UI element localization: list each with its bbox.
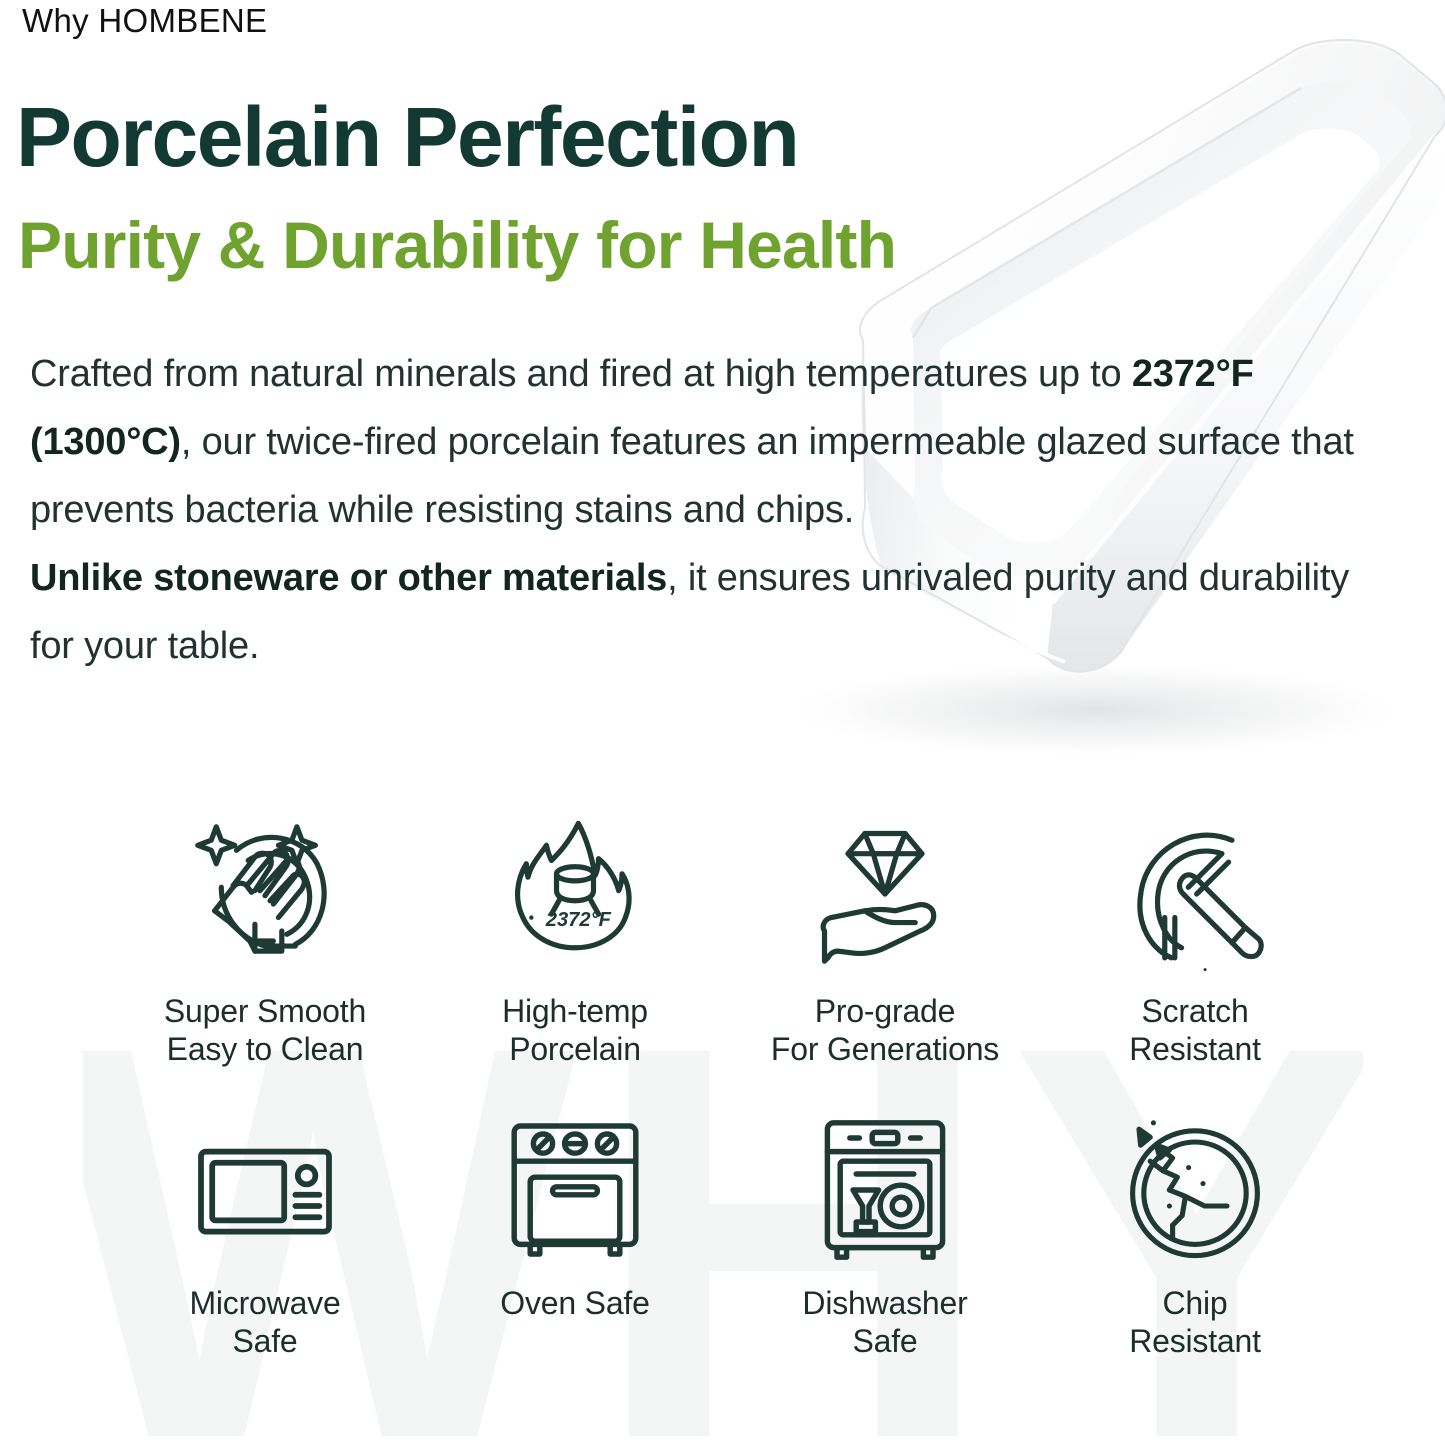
paragraph-one-tail: , our twice-fired porcelain features an …	[30, 421, 1354, 531]
feature-high-temp: 2372°F High-temp Porcelain	[420, 800, 730, 1100]
knife-scratch-plate-icon	[1111, 810, 1279, 978]
feature-label: Chip Resistant	[1129, 1284, 1261, 1360]
feature-oven-safe: Oven Safe	[420, 1100, 730, 1400]
page-subtitle: Purity & Durability for Health	[18, 208, 896, 282]
body-copy: Crafted from natural minerals and fired …	[30, 340, 1370, 680]
page-title: Porcelain Perfection	[16, 92, 798, 182]
cracked-plate-icon	[1115, 1110, 1275, 1270]
paragraph-one-lead: Crafted from natural minerals and fired …	[30, 353, 1132, 395]
feature-super-smooth: Super Smooth Easy to Clean	[110, 800, 420, 1100]
hand-wipe-sparkle-icon	[181, 810, 349, 978]
infographic-page: WHY	[0, 0, 1445, 1446]
flame-temp-text: 2372°F	[545, 909, 612, 931]
feature-label: Scratch Resistant	[1129, 992, 1261, 1068]
feature-label: Pro-grade For Generations	[771, 992, 999, 1068]
paragraph-one: Crafted from natural minerals and fired …	[30, 340, 1370, 544]
feature-chip-resistant: Chip Resistant	[1040, 1100, 1350, 1400]
feature-label: Microwave Safe	[189, 1284, 340, 1360]
feature-microwave-safe: Microwave Safe	[110, 1100, 420, 1400]
flame-temperature-icon: 2372°F	[491, 810, 659, 978]
microwave-icon	[185, 1110, 345, 1270]
feature-label: Dishwasher Safe	[802, 1284, 967, 1360]
diamond-in-hand-icon	[801, 810, 969, 978]
feature-scratch-resistant: Scratch Resistant	[1040, 800, 1350, 1100]
feature-label: Super Smooth Easy to Clean	[164, 992, 366, 1068]
feature-dishwasher-safe: Dishwasher Safe	[730, 1100, 1040, 1400]
feature-pro-grade: Pro-grade For Generations	[730, 800, 1040, 1100]
paragraph-two: Unlike stoneware or other materials, it …	[30, 544, 1370, 680]
feature-label: Oven Safe	[500, 1284, 649, 1322]
feature-grid: Super Smooth Easy to Clean 2372°F	[110, 800, 1350, 1400]
dishwasher-icon	[805, 1110, 965, 1270]
brand-eyebrow: Why HOMBENE	[22, 2, 267, 40]
oven-icon	[495, 1110, 655, 1270]
feature-label: High-temp Porcelain	[502, 992, 648, 1068]
comparison-emphasis: Unlike stoneware or other materials	[30, 557, 667, 599]
